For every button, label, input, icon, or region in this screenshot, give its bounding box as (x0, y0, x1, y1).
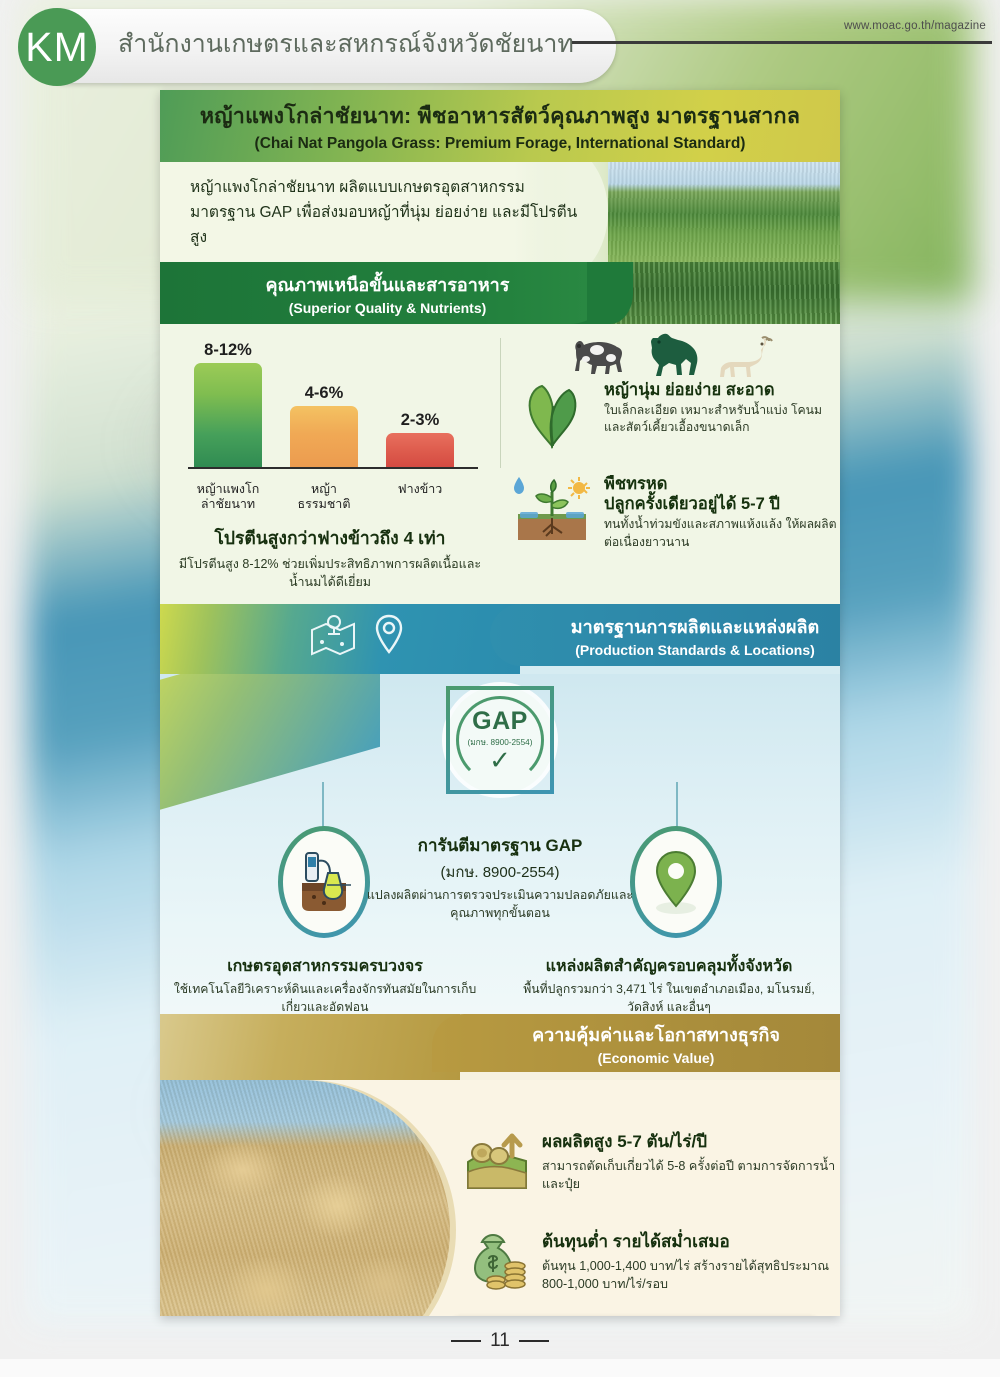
cow-icon (570, 334, 634, 380)
horse-icon (644, 332, 706, 380)
plant-water-sun-icon (512, 474, 592, 544)
hay-field-arrow-icon (466, 1128, 528, 1190)
bar-value-label: 4-6% (305, 384, 344, 403)
title-thai: หญ้าแพงโกล่าชัยนาท: พืชอาหารสัตว์คุณภาพส… (200, 99, 800, 133)
location-pin-outline-icon (372, 612, 406, 658)
feature-hardy-plant: พืชทรหด ปลูกครั้งเดียวอยู่ได้ 5-7 ปี ทนท… (512, 474, 840, 551)
section-economic-english: (Economic Value) (598, 1050, 715, 1066)
protein-bar-chart: 8-12% 4-6% 2-3% ห (194, 346, 472, 486)
standards-header-icons (308, 612, 406, 658)
goat-icon (716, 334, 774, 380)
standards-left-text: เกษตรอุตสาหกรรมครบวงจร ใช้เทคโนโลยีวิเคร… (166, 954, 484, 1014)
bar-natural-grass (290, 406, 358, 468)
animal-icon-row (570, 332, 774, 380)
bar-category-label: ฟางข้าว (386, 482, 454, 513)
section-header-standards: มาตรฐานการผลิตและแหล่งผลิต (Production S… (160, 604, 840, 674)
feature-heading-line2: ปลูกครั้งเดียวอยู่ได้ 5-7 ปี (604, 494, 840, 514)
chart-caption-heading: โปรตีนสูงกว่าฟางข้าวถึง 4 เท่า (176, 524, 484, 552)
quality-body: 8-12% 4-6% 2-3% ห (160, 324, 840, 604)
organization-name: สำนักงานเกษตรและสหกรณ์จังหวัดชัยนาท (118, 24, 574, 64)
economic-body-text: สามารถตัดเก็บเกี่ยวได้ 5-8 ครั้งต่อปี ตา… (542, 1157, 840, 1194)
bar-group: 2-3% (386, 356, 454, 468)
page-dash-right (519, 1340, 549, 1342)
protein-chart-column: 8-12% 4-6% 2-3% ห (160, 324, 500, 604)
section-economic-left-shape (160, 1014, 460, 1080)
title-banner: หญ้าแพงโกล่าชัยนาท: พืชอาหารสัตว์คุณภาพส… (160, 90, 840, 162)
section-economic-thai: ความคุ้มค่าและโอกาสทางธุรกิจ (532, 1020, 780, 1049)
masthead: KM สำนักงานเกษตรและสหกรณ์จังหวัดชัยนาท w… (0, 0, 1000, 92)
section-quality-english: (Superior Quality & Nutrients) (289, 300, 487, 316)
gap-center-text: การันตีมาตรฐาน GAP (มกษ. 8900-2554) แปลง… (350, 832, 650, 923)
bar-value-label: 8-12% (204, 341, 252, 360)
page-number: 11 (490, 1330, 510, 1352)
feature-heading: หญ้านุ่ม ย่อยง่าย สะอาด (604, 380, 840, 400)
chart-axis-line (188, 467, 478, 469)
section-standards-english: (Production Standards & Locations) (575, 642, 815, 658)
economic-body: ผลผลิตสูง 5-7 ตัน/ไร่/ปี สามารถตัดเก็บเก… (160, 1080, 840, 1316)
page-dash-left (451, 1340, 481, 1342)
feature-body: ใบเล็กละเอียด เหมาะสำหรับน้ำแบ่ง โคนม แล… (604, 402, 840, 437)
gap-badge-ring (456, 696, 544, 784)
grass-texture-strip (600, 262, 840, 324)
location-pin-icon (648, 846, 704, 918)
soil-test-icon (294, 847, 354, 917)
page-number-row: 11 (0, 1330, 1000, 1352)
gap-center-sub1: (มกษ. 8900-2554) (350, 860, 650, 884)
economic-heading: ผลผลิตสูง 5-7 ตัน/ไร่/ปี (542, 1128, 840, 1155)
bar-rice-straw (386, 433, 454, 468)
bar-category-label: หญ้าธรรมชาติ (290, 482, 358, 513)
feature-body: ทนทั้งน้ำท่วมขังและสภาพแห้งแล้ง ให้ผลผลิ… (604, 516, 840, 551)
section-standards-thai: มาตรฐานการผลิตและแหล่งผลิต (571, 612, 819, 641)
economic-item-cost: ต้นทุนต่ำ รายได้สม่ำเสมอ ต้นทุน 1,000-1,… (466, 1228, 840, 1294)
infographic-card: หญ้าแพงโกล่าชัยนาท: พืชอาหารสัตว์คุณภาพส… (160, 90, 840, 1316)
masthead-rule (572, 41, 992, 44)
leaves-icon (512, 380, 592, 450)
standards-right-text: แหล่งผลิตสำคัญครอบคลุมทั้งจังหวัด พื้นที… (504, 954, 834, 1014)
bar-category-label: หญ้าแพงโกล่าชัยนาท (194, 482, 262, 513)
chart-caption: โปรตีนสูงกว่าฟางข้าวถึง 4 เท่า มีโปรตีนส… (176, 524, 484, 591)
standards-body: GAP (มกษ. 8900-2554) ✓ (160, 674, 840, 1014)
website-url: www.moac.go.th/magazine (844, 20, 986, 32)
standards-left-body: ใช้เทคโนโลยีวิเคราะห์ดินและเครื่องจักรทั… (166, 981, 484, 1014)
bar-pangola (194, 363, 262, 468)
feature-soft-grass: หญ้านุ่ม ย่อยง่าย สะอาด ใบเล็กละเอียด เห… (512, 380, 840, 450)
features-column: หญ้านุ่ม ย่อยง่าย สะอาด ใบเล็กละเอียด เห… (500, 324, 840, 604)
km-logo-text: KM (25, 24, 89, 71)
gap-center-sub2: แปลงผลิตผ่านการตรวจประเมินความปลอดภัยและ… (350, 887, 650, 923)
bar-group: 4-6% (290, 356, 358, 468)
economic-heading: ต้นทุนต่ำ รายได้สม่ำเสมอ (542, 1228, 840, 1255)
chart-caption-sub: มีโปรตีนสูง 8-12% ช่วยเพิ่มประสิทธิภาพกา… (176, 555, 484, 591)
title-english: (Chai Nat Pangola Grass: Premium Forage,… (255, 135, 746, 153)
section-header-economic: ความคุ้มค่าและโอกาสทางธุรกิจ (Economic V… (160, 1014, 840, 1080)
magazine-page: KM สำนักงานเกษตรและสหกรณ์จังหวัดชัยนาท w… (0, 0, 1000, 1377)
intro-text: หญ้าแพงโกล่าชัยนาท ผลิตแบบเกษตรอุตสาหกรร… (190, 175, 580, 250)
economic-body-text: ต้นทุน 1,000-1,400 บาท/ไร่ สร้างรายได้สุ… (542, 1257, 840, 1294)
gap-center-heading: การันตีมาตรฐาน GAP (350, 832, 650, 859)
page-bottom-margin (0, 1359, 1000, 1377)
section-quality-thai: คุณภาพเหนือขั้นและสารอาหาร (266, 270, 510, 299)
km-logo: KM (18, 8, 96, 86)
gap-certification-badge: GAP (มกษ. 8900-2554) ✓ (446, 686, 554, 794)
economic-item-yield: ผลผลิตสูง 5-7 ตัน/ไร่/ปี สามารถตัดเก็บเก… (466, 1128, 840, 1194)
money-bag-coins-icon (466, 1228, 528, 1290)
bar-value-label: 2-3% (401, 411, 440, 430)
field-map-icon (308, 612, 356, 658)
grass-field-photo (608, 162, 840, 262)
standards-left-heading: เกษตรอุตสาหกรรมครบวงจร (166, 954, 484, 979)
standards-right-heading: แหล่งผลิตสำคัญครอบคลุมทั้งจังหวัด (504, 954, 834, 979)
bar-group: 8-12% (194, 356, 262, 468)
hay-bales-photo (160, 1080, 450, 1316)
standards-right-body: พื้นที่ปลูกรวมกว่า 3,471 ไร่ ในเขตอำเภอเ… (504, 981, 834, 1014)
feature-heading-line1: พืชทรหด (604, 474, 840, 494)
intro-band: หญ้าแพงโกล่าชัยนาท ผลิตแบบเกษตรอุตสาหกรร… (160, 162, 840, 262)
section-header-quality: คุณภาพเหนือขั้นและสารอาหาร (Superior Qua… (160, 262, 840, 324)
